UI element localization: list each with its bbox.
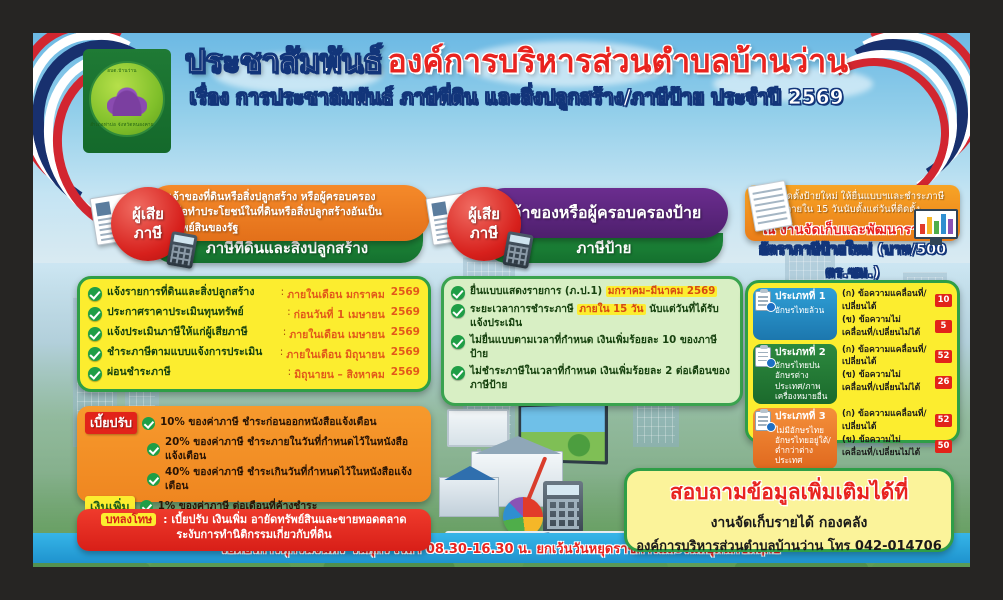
tree-shape (568, 434, 590, 457)
check-icon (88, 367, 102, 381)
list-item: แจ้งประเมินภาษีให้แก่ผู้เสียภาษี : ภายใน… (88, 326, 420, 343)
sign-text-pre: ระยะเวลาการชำระภาษี (470, 304, 574, 315)
calculator-icon (166, 231, 198, 269)
schedule-when: ภายในเดือน เมษายน (289, 326, 384, 343)
rate-lines: (ก) ข้อความแคลื่อนที่/เปลี่ยนได้ 10 (ข) … (837, 288, 952, 340)
land-desc-line1: เจ้าของที่ดินหรือสิ่งปลูกสร้าง หรือผู้คร… (169, 190, 382, 205)
schedule-label: แจ้งรายการที่ดินและสิ่งปลูกสร้าง (107, 286, 278, 300)
sign-schedule-text: ยื่นแบบแสดงรายการ (ภ.ป.1) มกราคม–มีนาคม … (470, 285, 733, 299)
monitor-stand (930, 239, 942, 245)
check-badge-icon (766, 302, 776, 312)
rate-line: (ข) ข้อความไม่เคลื่อนที่/เปลี่ยนไม่ได้ 5 (842, 314, 952, 340)
blank-billboard-illustration (447, 409, 509, 447)
schedule-year: 2569 (391, 366, 420, 378)
organization-emblem: อบต.บ้านว่าน อำเภอท่าบ่อ จังหวัดหนองคาย (69, 43, 175, 161)
rate-type-name: ประเภทที่ 1 (775, 291, 833, 304)
rate-line: (ก) ข้อความแคลื่อนที่/เปลี่ยนได้ 52 (842, 344, 952, 370)
poster-header: ประชาสัมพันธ์ องค์การบริหารส่วนตำบลบ้านว… (183, 45, 850, 113)
schedule-when: ก่อนวันที่ 1 เมษายน (294, 306, 385, 323)
rate-type-tag: ประเภทที่ 3 ไม่มีอักษรไทย อักษรไทยอยู่ใต… (753, 408, 837, 469)
rate-value: 26 (935, 376, 952, 389)
land-tax-schedule-box: แจ้งรายการที่ดินและสิ่งปลูกสร้าง : ภายใน… (77, 276, 431, 392)
land-desc-line3: ทรัพย์สินของรัฐ (169, 221, 382, 236)
sign-schedule-text: ระยะเวลาการชำระภาษี ภายใน 15 วัน นับแต่ว… (470, 303, 733, 331)
title-part1: ประชาสัมพันธ์ (185, 42, 383, 80)
rate-line-text: (ข) ข้อความไม่เคลื่อนที่/เปลี่ยนไม่ได้ (842, 314, 932, 340)
check-icon (88, 307, 102, 321)
rate-value: 10 (935, 294, 952, 307)
rate-lines: (ก) ข้อความแคลื่อนที่/เปลี่ยนได้ 52 (ข) … (837, 344, 952, 405)
land-taxpayer-badge: ผู้เสีย ภาษี (95, 185, 191, 263)
check-icon (88, 287, 102, 301)
sign-schedule-text: ไม่ชำระภาษีในเวลาที่กำหนด เงินเพิ่มร้อยล… (470, 365, 733, 393)
table-row: ประเภทที่ 1 อักษรไทยล้วน (ก) ข้อความแคลื… (753, 288, 952, 340)
criminal-text1: : เบี้ยปรับ เงินเพิ่ม อายัดทรัพย์สินและข… (163, 513, 406, 526)
small-house-illustration (439, 477, 499, 517)
monitor-screen (914, 209, 958, 239)
list-item: ชำระภาษีตามแบบแจ้งการประเมิน : ภายในเดือ… (88, 346, 420, 363)
clipboard-icon (755, 347, 771, 367)
contact-heading: สอบถามข้อมูลเพิ่มเติมได้ที่ (627, 476, 951, 509)
sign-badge-line2: ภาษี (470, 224, 498, 243)
sign-tax-schedule-box: ยื่นแบบแสดงรายการ (ภ.ป.1) มกราคม–มีนาคม … (441, 276, 743, 406)
schedule-year: 2569 (391, 346, 420, 358)
rate-line-text: (ก) ข้อความแคลื่อนที่/เปลี่ยนได้ (842, 288, 932, 314)
schedule-when: ภายในเดือน มกราคม (287, 286, 385, 303)
list-item: ระยะเวลาการชำระภาษี ภายใน 15 วัน นับแต่ว… (451, 303, 733, 331)
check-icon (147, 443, 160, 456)
rate-lines: (ก) ข้อความแคลื่อนที่/เปลี่ยนได้ 52 (ข) … (837, 408, 952, 469)
list-item: ประกาศราคาประเมินทุนทรัพย์ : ก่อนวันที่ … (88, 306, 420, 323)
rate-type-name: ประเภทที่ 3 (775, 411, 833, 424)
fine-tag: เบี้ยปรับ (85, 412, 137, 434)
table-row: ประเภทที่ 3 ไม่มีอักษรไทย อักษรไทยอยู่ใต… (753, 408, 952, 469)
schedule-when: ภายในเดือน มิถุนายน (286, 346, 385, 363)
land-badge-line1: ผู้เสีย (132, 205, 164, 224)
document-photo-icon (95, 201, 111, 216)
check-badge-icon (766, 358, 776, 368)
criminal-line2: ระงับการทำนิติกรรมเกี่ยวกับที่ดิน (85, 528, 423, 543)
list-item: แจ้งรายการที่ดินและสิ่งปลูกสร้าง : ภายใน… (88, 286, 420, 303)
page-subtitle: เรื่อง การประชาสัมพันธ์ ภาษีที่ดิน และสิ… (183, 81, 850, 113)
schedule-year: 2569 (391, 326, 420, 338)
rate-line: (ข) ข้อความไม่เคลื่อนที่/เปลี่ยนไม่ได้ 2… (842, 369, 952, 395)
table-row: ประเภทที่ 2 อักษรไทยปนอักษรต่างประเทศ/ภา… (753, 344, 952, 405)
clipboard-icon (755, 291, 771, 311)
emblem-glyph-icon (107, 82, 147, 116)
rate-line: (ก) ข้อความแคลื่อนที่/เปลี่ยนได้ 10 (842, 288, 952, 314)
rate-line-text: (ก) ข้อความแคลื่อนที่/เปลี่ยนได้ (842, 408, 932, 434)
schedule-separator: : (280, 346, 284, 358)
rate-line: (ก) ข้อความแคลื่อนที่/เปลี่ยนได้ 52 (842, 408, 952, 434)
penalty-text: 10% ของค่าภาษี ชำระก่อนออกหนังสือแจ้งเตื… (160, 416, 423, 430)
sign-badge-line1: ผู้เสีย (468, 205, 500, 224)
title-part2: องค์การบริหารส่วนตำบลบ้านว่าน (388, 42, 849, 80)
rate-line: (ข) ข้อความไม่เคลื่อนที่/เปลี่ยนไม่ได้ 5… (842, 434, 952, 460)
sign-schedule-text: ไม่ยื่นแบบตามเวลาที่กำหนด เงินเพิ่มร้อยล… (470, 334, 733, 362)
check-icon (451, 335, 465, 349)
schedule-separator: : (287, 306, 291, 318)
tablet-icon (747, 180, 792, 232)
list-item: 40% ของค่าภาษี ชำระเกินวันที่กำหนดไว้ในห… (85, 466, 423, 494)
calculator-illustration (543, 481, 583, 533)
rate-type-sub: ไม่มีอักษรไทย อักษรไทยอยู่ใต้/ต่ำกว่าต่า… (775, 425, 831, 466)
penalty-panel: เบี้ยปรับ 10% ของค่าภาษี ชำระก่อนออกหนัง… (77, 406, 431, 502)
schedule-label: ประกาศราคาประเมินทุนทรัพย์ (107, 306, 284, 320)
check-icon (88, 327, 102, 341)
schedule-label: ชำระภาษีตามแบบแจ้งการประเมิน (107, 346, 277, 360)
sign-text-highlight: มกราคม–มีนาคม 2569 (606, 286, 718, 297)
contact-box: สอบถามข้อมูลเพิ่มเติมได้ที่ งานจัดเก็บรา… (624, 468, 954, 552)
schedule-separator: : (281, 286, 285, 298)
calculator-icon (502, 231, 534, 269)
monitor-chart-icon (914, 209, 958, 245)
criminal-line1: บทลงโทษ : เบี้ยปรับ เงินเพิ่ม อายัดทรัพย… (85, 513, 423, 528)
list-item: ยื่นแบบแสดงรายการ (ภ.ป.1) มกราคม–มีนาคม … (451, 285, 733, 300)
criminal-penalty-bar: บทลงโทษ : เบี้ยปรับ เงินเพิ่ม อายัดทรัพย… (77, 509, 431, 551)
check-icon (451, 304, 465, 318)
rate-value: 52 (935, 414, 952, 427)
rate-line-text: (ข) ข้อความไม่เคลื่อนที่/เปลี่ยนไม่ได้ (842, 434, 932, 460)
rate-type-tag: ประเภทที่ 1 อักษรไทยล้วน (753, 288, 837, 340)
criminal-tag: บทลงโทษ (101, 513, 156, 526)
schedule-when: มิถุนายน – สิงหาคม (294, 366, 385, 383)
sign-tax-payer-description: เจ้าของหรือผู้ครอบครองป้าย (507, 201, 702, 226)
land-desc-line2: หรือทำประโยชน์ในที่ดินหรือสิ่งปลูกสร้างอ… (169, 205, 382, 220)
list-item: ผ่อนชำระภาษี : มิถุนายน – สิงหาคม 2569 (88, 366, 420, 383)
schedule-separator: : (283, 326, 287, 338)
schedule-separator: : (288, 366, 292, 378)
list-item: ไม่ชำระภาษีในเวลาที่กำหนด เงินเพิ่มร้อยล… (451, 365, 733, 393)
rate-value: 5 (935, 320, 952, 333)
rate-value: 50 (935, 440, 952, 453)
sign-rate-table: ประเภทที่ 1 อักษรไทยล้วน (ก) ข้อความแคลื… (745, 280, 960, 443)
check-icon (88, 347, 102, 361)
penalty-text: 40% ของค่าภาษี ชำระเกินวันที่กำหนดไว้ในห… (165, 466, 423, 494)
land-badge-line2: ภาษี (134, 224, 162, 243)
rate-line-text: (ก) ข้อความแคลื่อนที่/เปลี่ยนได้ (842, 344, 932, 370)
land-tax-payer-description: เจ้าของที่ดินหรือสิ่งปลูกสร้าง หรือผู้คร… (169, 190, 382, 236)
emblem-text-top: อบต.บ้านว่าน (69, 67, 175, 74)
schedule-year: 2569 (391, 286, 420, 298)
rate-type-name: ประเภทที่ 2 (775, 347, 833, 360)
rate-type-tag: ประเภทที่ 2 อักษรไทยปนอักษรต่างประเทศ/ภา… (753, 344, 837, 405)
schedule-year: 2569 (391, 306, 420, 318)
check-icon (451, 286, 465, 300)
check-icon (142, 417, 155, 430)
list-item: ไม่ยื่นแบบตามเวลาที่กำหนด เงินเพิ่มร้อยล… (451, 334, 733, 362)
emblem-text-bottom: อำเภอท่าบ่อ จังหวัดหนองคาย (69, 121, 175, 128)
sign-text-highlight: ภายใน 15 วัน (577, 304, 645, 315)
poster-canvas: อบต.บ้านว่าน อำเภอท่าบ่อ จังหวัดหนองคาย … (33, 33, 970, 567)
check-icon (451, 366, 465, 380)
sign-text-pre: ยื่นแบบแสดงรายการ (ภ.ป.1) (470, 286, 602, 297)
rate-value: 52 (935, 350, 952, 363)
list-item: เบี้ยปรับ 10% ของค่าภาษี ชำระก่อนออกหนัง… (85, 412, 423, 434)
check-badge-icon (766, 422, 776, 432)
clipboard-icon (755, 411, 771, 431)
rate-type-sub: อักษรไทยปนอักษรต่างประเทศ/ภาพ เครื่องหมา… (775, 360, 827, 401)
check-icon (147, 473, 160, 486)
document-photo-icon (431, 201, 447, 216)
contact-department: งานจัดเก็บรายได้ กองคลัง (627, 512, 951, 534)
list-item: 20% ของค่าภาษี ชำระภายในวันที่กำหนดไว้ใน… (85, 436, 423, 464)
rate-line-text: (ข) ข้อความไม่เคลื่อนที่/เปลี่ยนไม่ได้ (842, 369, 932, 395)
contact-organization-phone: องค์การบริหารส่วนตำบลบ้านว่าน โทร 042-01… (627, 535, 951, 556)
rate-type-sub: อักษรไทยล้วน (775, 305, 824, 315)
sign-taxpayer-badge: ผู้เสีย ภาษี (431, 185, 527, 263)
schedule-label: ผ่อนชำระภาษี (107, 366, 285, 380)
penalty-text: 20% ของค่าภาษี ชำระภายในวันที่กำหนดไว้ใน… (165, 436, 423, 464)
page-title: ประชาสัมพันธ์ องค์การบริหารส่วนตำบลบ้านว… (183, 45, 850, 79)
schedule-label: แจ้งประเมินภาษีให้แก่ผู้เสียภาษี (107, 326, 280, 340)
